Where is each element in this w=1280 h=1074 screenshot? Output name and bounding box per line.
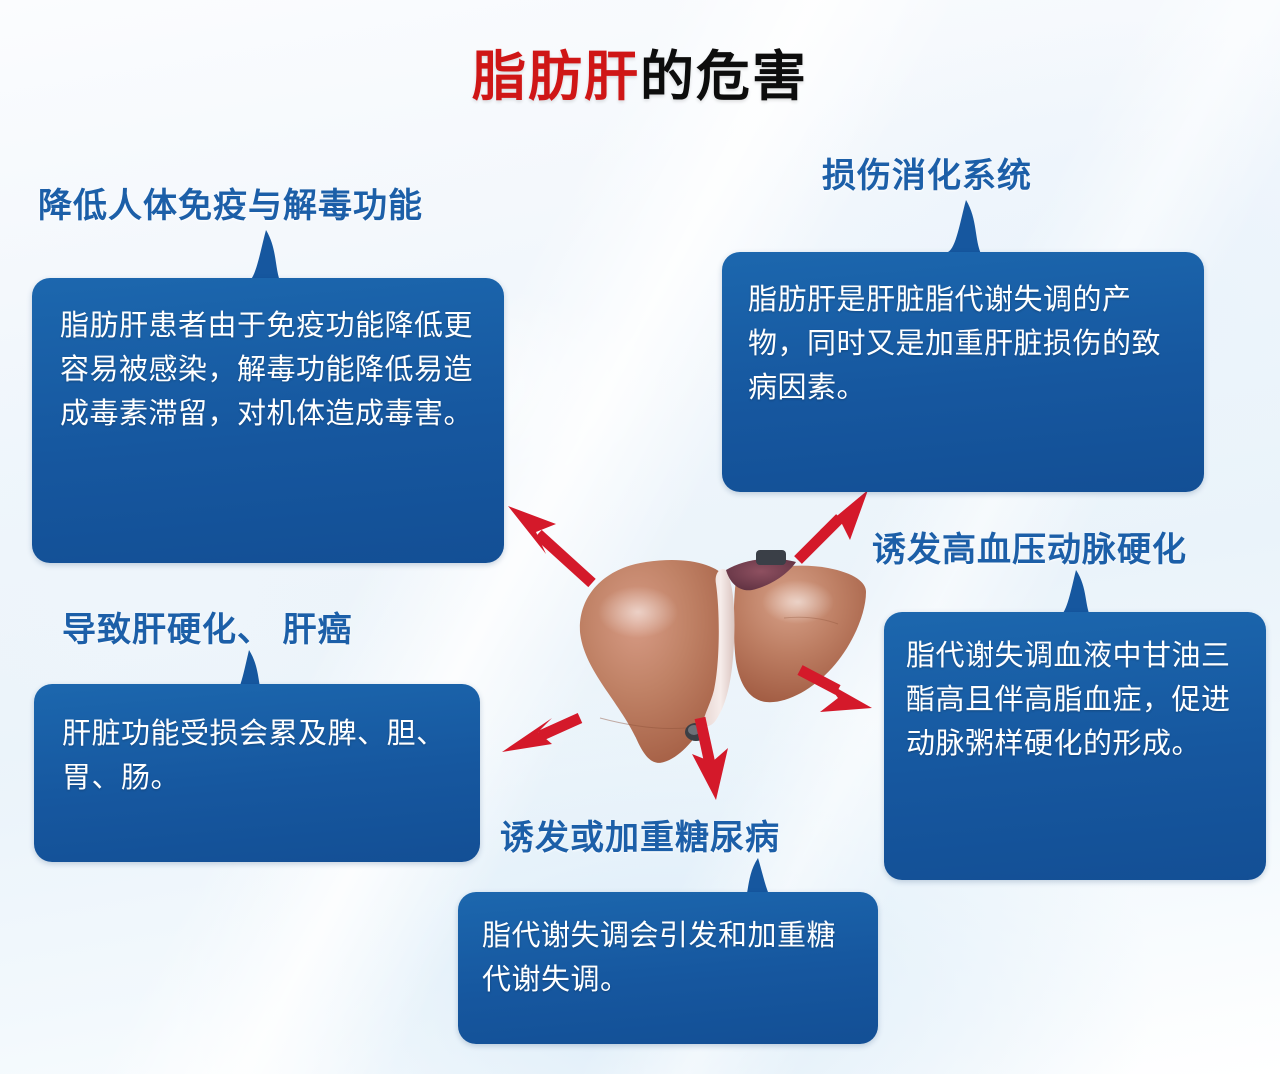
page-title: 脂肪肝的危害 <box>0 32 1280 111</box>
title-highlight: 脂肪肝 <box>472 47 640 107</box>
heading-diabetes: 诱发或加重糖尿病 <box>500 810 780 859</box>
heading-immunity: 降低人体免疫与解毒功能 <box>38 178 423 227</box>
callout-hypertension: 脂代谢失调血液中甘油三酯高且伴高脂血症，促进动脉粥样硬化的形成。 <box>884 612 1266 880</box>
callout-digestive-body: 脂肪肝是肝脏脂代谢失调的产物，同时又是加重肝脏损伤的致病因素。 <box>748 278 1178 410</box>
title-rest: 的危害 <box>640 47 808 107</box>
callout-immunity: 脂肪肝患者由于免疫功能降低更容易被感染，解毒功能降低易造成毒素滞留，对机体造成毒… <box>32 278 504 563</box>
callout-diabetes-body: 脂代谢失调会引发和加重糖代谢失调。 <box>482 914 856 1002</box>
heading-cirrhosis: 导致肝硬化、 肝癌 <box>62 602 352 651</box>
heading-hypertension: 诱发高血压动脉硬化 <box>872 522 1187 571</box>
callout-diabetes: 脂代谢失调会引发和加重糖代谢失调。 <box>458 892 878 1044</box>
callout-cirrhosis-body: 肝脏功能受损会累及脾、胆、胃、肠。 <box>62 712 456 800</box>
heading-digestive: 损伤消化系统 <box>822 148 1032 197</box>
callout-hypertension-body: 脂代谢失调血液中甘油三酯高且伴高脂血症，促进动脉粥样硬化的形成。 <box>906 634 1246 766</box>
callout-digestive: 脂肪肝是肝脏脂代谢失调的产物，同时又是加重肝脏损伤的致病因素。 <box>722 252 1204 492</box>
callout-immunity-body: 脂肪肝患者由于免疫功能降低更容易被感染，解毒功能降低易造成毒素滞留，对机体造成毒… <box>60 304 478 436</box>
callout-cirrhosis: 肝脏功能受损会累及脾、胆、胃、肠。 <box>34 684 480 862</box>
